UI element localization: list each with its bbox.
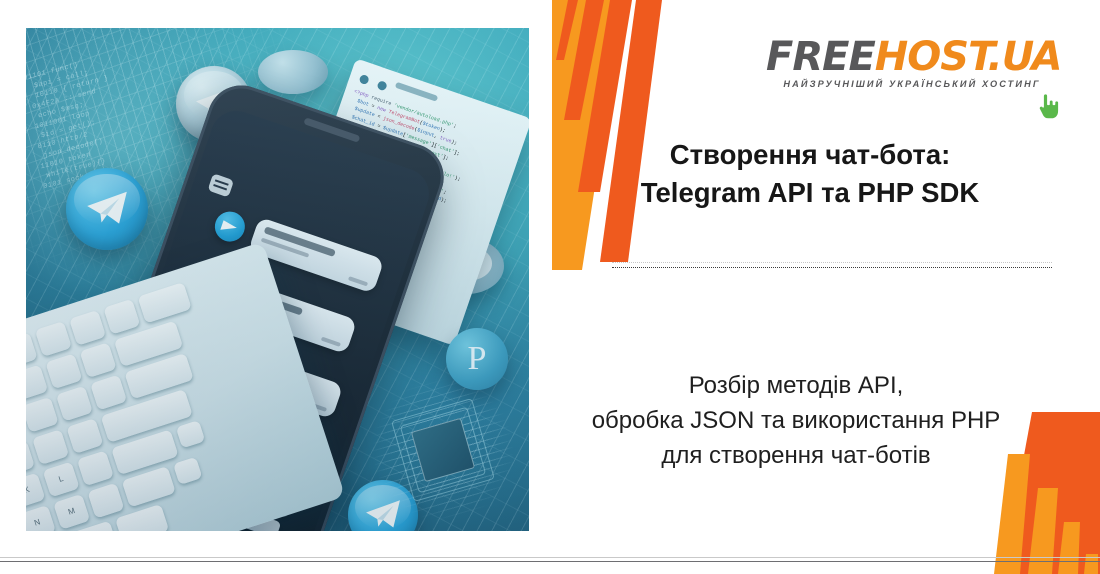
page-title: Створення чат-бота: Telegram API та PHP … [560,136,1060,212]
telegram-plane-icon [66,168,148,250]
window-dot [377,80,388,91]
telegram-plane-glyph [85,189,129,227]
keyboard-key [26,397,59,433]
keyboard-key [56,386,93,422]
title-line-2: Telegram API та PHP SDK [560,174,1060,212]
keyboard-key [45,353,82,389]
pointing-hand-cursor-icon [1036,92,1062,122]
subtitle-line-3: для створення чат-ботів [530,438,1062,473]
window-dot [358,74,369,85]
keyboard-key [122,466,176,507]
window-title-bar [395,82,439,102]
chat-timestamp [321,337,341,347]
logo-word-free: FREE [766,34,875,80]
hamburger-menu-icon [207,173,234,197]
keyboard-key [32,429,69,465]
keyboard-key [77,450,114,486]
keyboard-key [115,504,169,531]
keyboard-key: N [26,505,56,531]
keyboard-key [103,299,140,335]
keyboard-key [66,418,103,454]
presentation-banner: 01101 func() $api = call; 10110 { return… [0,0,1100,574]
freehost-logo[interactable]: FREEHOST.UA НАЙЗРУЧНІШИЙ УКРАЇНСЬКИЙ ХОС… [766,36,1058,89]
keyboard-key: L [43,461,80,497]
keyboard-key [87,483,124,519]
dotted-divider [612,262,1052,269]
keyboard-key [69,310,106,346]
title-line-1: Створення чат-бота: [560,136,1060,174]
keyboard-key [90,375,127,411]
keyboard-key [80,342,117,378]
subtitle-line-1: Розбір методів API, [530,368,1062,403]
chat-timestamp [348,276,368,286]
keyboard-key [137,282,191,323]
subtitle-line-2: обробка JSON та використання PHP [530,403,1062,438]
hero-illustration: 01101 func() $api = call; 10110 { return… [26,28,529,531]
telegram-plane-icon [211,208,249,246]
logo-word-host: HOST.UA [875,34,1062,80]
divider-line-dark [612,267,1052,268]
divider-line-light [612,262,1052,263]
page-subtitle: Розбір методів API, обробка JSON та вико… [530,368,1062,473]
keyboard-key: K [26,473,46,509]
logo-tagline: НАЙЗРУЧНІШИЙ УКРАЇНСЬКИЙ ХОСТИНГ [766,79,1058,89]
logo-wordmark: FREEHOST.UA [766,36,1058,78]
keyboard-key [173,457,203,485]
keyboard-key [26,332,38,368]
bottom-rule-dark [0,561,1100,562]
bottom-rule-light [0,557,1100,558]
keyboard-key [26,364,48,400]
cpu-chip-icon [386,393,500,507]
keyboard-key: M [53,494,90,530]
decor-puck [258,50,328,94]
orange-decoration-top [552,0,672,270]
keyboard-key [35,321,72,357]
keyboard-key [176,420,206,448]
